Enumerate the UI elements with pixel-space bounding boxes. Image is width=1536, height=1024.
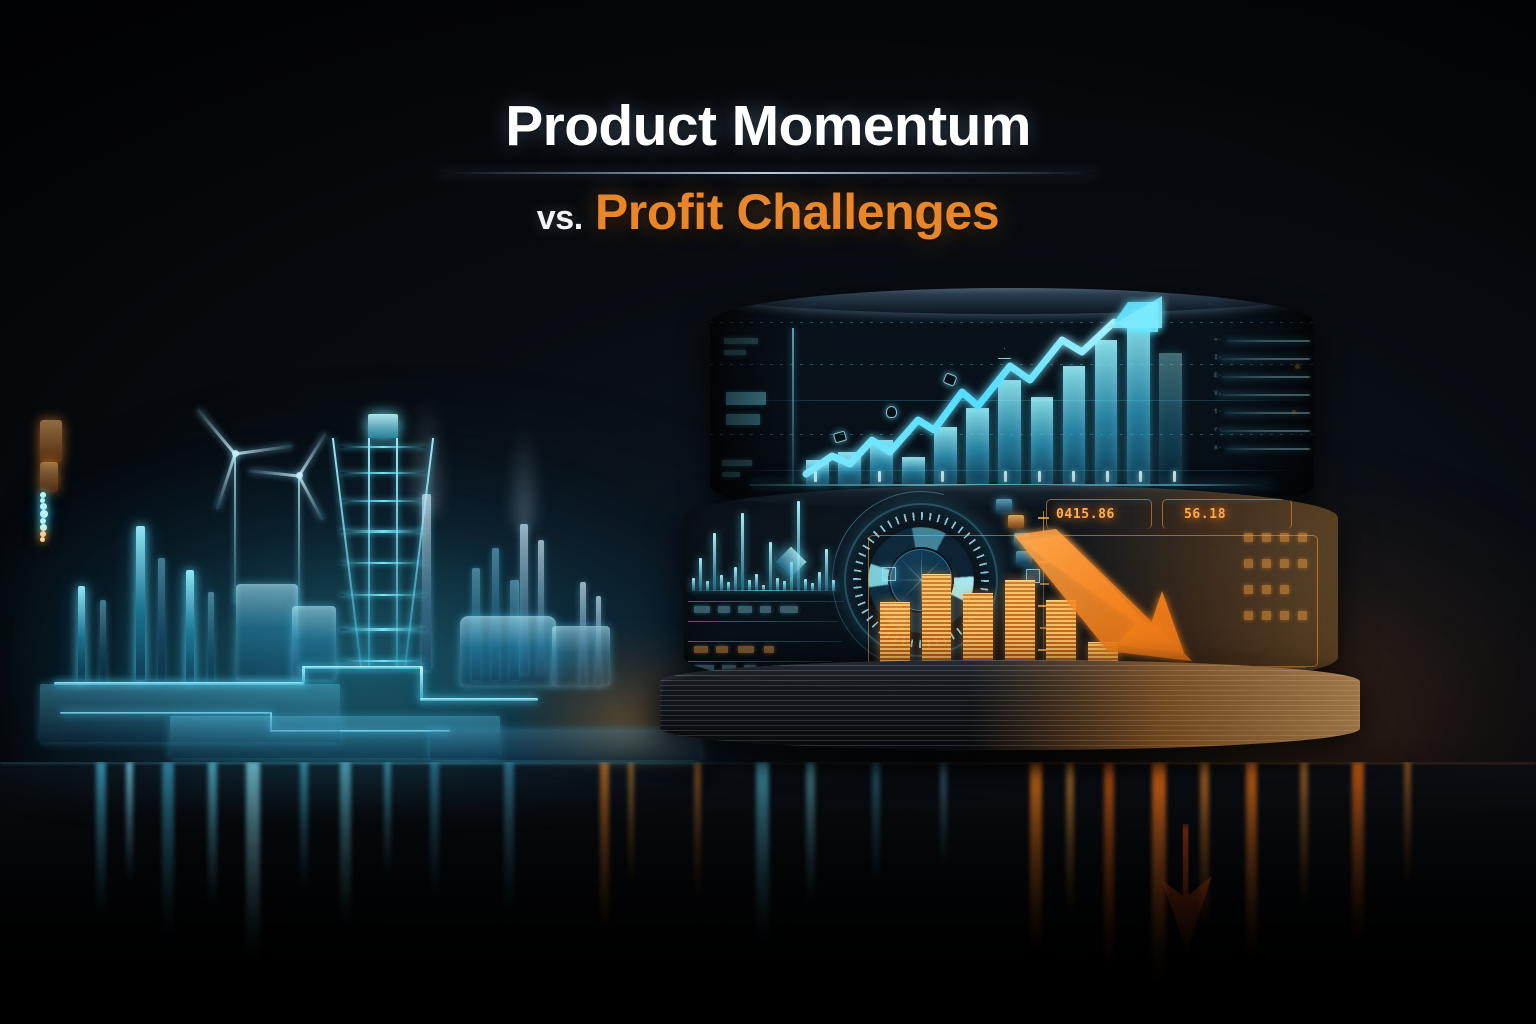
- smoke-plume-icon: [508, 426, 540, 530]
- page-subtitle: vs.Profit Challenges: [0, 184, 1536, 240]
- process-tower: [100, 600, 106, 684]
- machine-base-plinth: [660, 660, 1360, 750]
- derrick-lattice: [340, 628, 426, 631]
- turbine-mast: [234, 454, 236, 604]
- scene-stage: Product Momentum vs.Profit Challenges: [0, 0, 1536, 1024]
- pipeline: [420, 666, 423, 700]
- title-block: Product Momentum vs.Profit Challenges: [0, 96, 1536, 240]
- industrial-energy-plant: [40, 420, 700, 770]
- turbine-blade: [298, 475, 324, 521]
- storage-tank: [236, 584, 298, 680]
- title-divider: [438, 172, 1098, 174]
- wet-floor-reflection: [0, 762, 1536, 1024]
- process-tower: [186, 570, 194, 682]
- process-tower: [158, 558, 165, 682]
- derrick-lattice: [340, 594, 426, 596]
- reflection-fade: [0, 762, 1536, 1024]
- derrick-cap: [368, 414, 398, 438]
- turbine-blade: [298, 433, 327, 477]
- subtitle-highlight: Profit Challenges: [595, 184, 999, 240]
- pipeline: [420, 698, 538, 701]
- drilling-derrick-icon: [340, 438, 426, 668]
- pipeline: [302, 666, 422, 669]
- page-title: Product Momentum: [0, 96, 1536, 158]
- turbine-mast: [298, 476, 300, 608]
- process-tower: [136, 526, 145, 680]
- derrick-lattice: [340, 446, 426, 448]
- derrick-lattice: [340, 472, 426, 474]
- plinth-warm-highlight: [968, 660, 1360, 750]
- holographic-data-machine: =- I- E- V- t- r- x-: [650, 280, 1370, 750]
- process-tower: [208, 592, 214, 684]
- process-tower: [78, 586, 85, 682]
- smokestack: [422, 494, 431, 670]
- derrick-lattice: [340, 562, 426, 564]
- derrick-lattice: [340, 530, 426, 533]
- subtitle-vs-label: vs.: [537, 199, 583, 237]
- derrick-lattice: [340, 660, 426, 662]
- derrick-lattice: [340, 500, 426, 502]
